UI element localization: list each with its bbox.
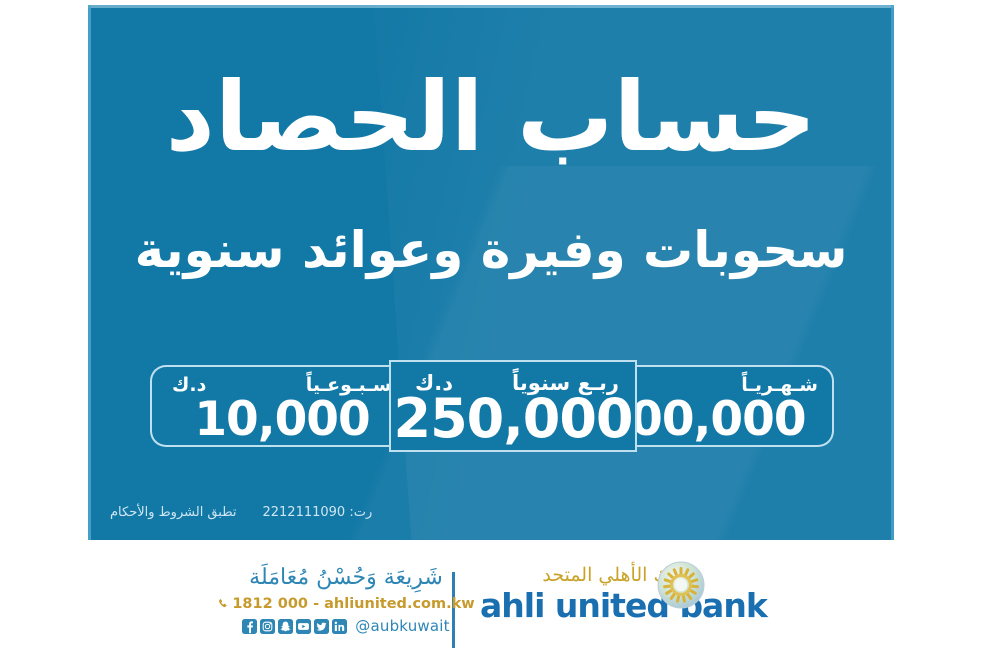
- page-subtitle: سحوبات وفيرة وعوائد سنوية: [88, 223, 894, 278]
- footer-contact-block: شَرِيعَة وَحُسْنُ مُعَامَلَة 1812 000 - …: [246, 566, 446, 635]
- fineprint: رت: 2212111090 تطبق الشروط والأحكام: [110, 505, 372, 520]
- prize-amount-value: 10,000: [152, 396, 412, 443]
- phone-and-website-text: 1812 000 - ahliunited.com.kw: [232, 596, 474, 612]
- panel-top-edge: [88, 5, 894, 8]
- prize-strip: أسـبـوعـياً د.ك 10,000 شـهـريـاً د.ك 100…: [150, 360, 834, 452]
- phone-handset-icon: [217, 597, 228, 611]
- instagram-icon[interactable]: [260, 619, 275, 634]
- social-links: @aubkuwait: [246, 617, 446, 635]
- aub-sunburst-emblem-icon: [656, 560, 706, 610]
- prize-card-weekly: أسـبـوعـياً د.ك 10,000: [150, 365, 412, 447]
- youtube-icon[interactable]: [296, 619, 311, 634]
- linkedin-icon[interactable]: [332, 619, 347, 634]
- contact-line[interactable]: 1812 000 - ahliunited.com.kw: [246, 596, 446, 612]
- twitter-icon[interactable]: [314, 619, 329, 634]
- prize-card-quarterly: ربـع سنوياً د.ك 250,000: [389, 360, 637, 452]
- facebook-icon[interactable]: [242, 619, 257, 634]
- page-title: حساب الحصاد: [88, 67, 894, 168]
- social-handle[interactable]: @aubkuwait: [355, 617, 449, 635]
- sharia-calligraphy: شَرِيعَة وَحُسْنُ مُعَامَلَة: [246, 566, 446, 590]
- footer: شَرِيعَة وَحُسْنُ مُعَامَلَة 1812 000 - …: [0, 560, 1000, 660]
- promo-hero-panel: حساب الحصاد سحوبات وفيرة وعوائد سنوية أس…: [88, 5, 894, 540]
- bank-logo: البنك الأهلي المتحد ahli united bank: [480, 564, 740, 623]
- snapchat-icon[interactable]: [278, 619, 293, 634]
- fineprint-terms: تطبق الشروط والأحكام: [110, 505, 236, 520]
- prize-amount-value: 250,000: [391, 392, 635, 446]
- fineprint-reference: رت: 2212111090: [262, 505, 372, 520]
